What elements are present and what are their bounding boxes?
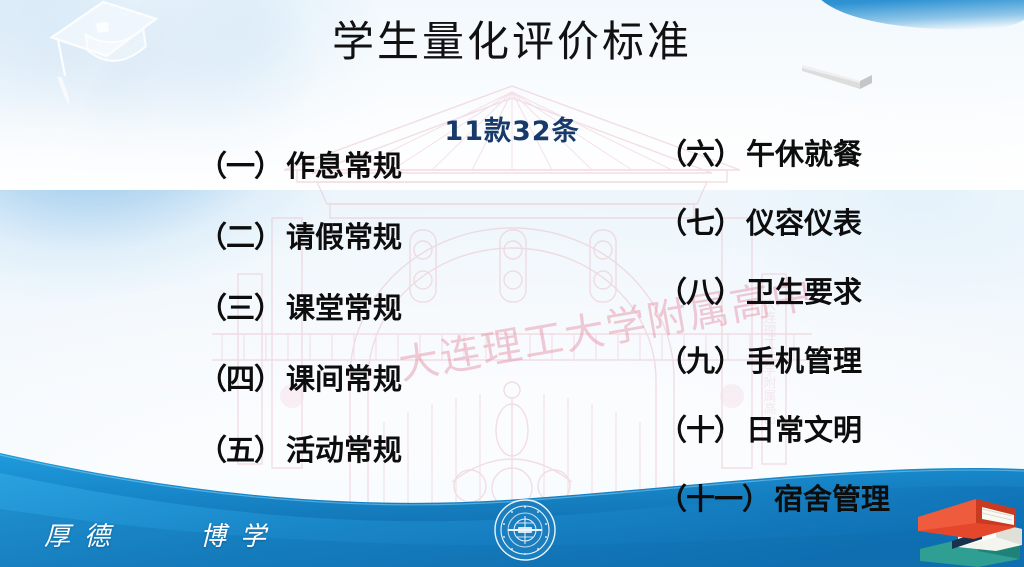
item-number: （九）: [658, 344, 742, 378]
item-label: 课间常规: [286, 362, 402, 396]
list-item: （一）作息常规: [198, 152, 402, 181]
left-items-column: （一）作息常规 （二）请假常规 （三）课堂常规 （四）课间常规 （五）活动常规: [198, 152, 402, 507]
item-number: （四）: [198, 362, 282, 396]
list-item: （十）日常文明: [658, 416, 890, 445]
list-item: （六）午休就餐: [658, 140, 890, 169]
stacked-books-icon: [912, 487, 1024, 567]
motto-houde: 厚德: [44, 516, 124, 553]
list-item: （九）手机管理: [658, 347, 890, 376]
item-label: 宿舍管理: [774, 482, 890, 516]
page-title: 学生量化评价标准: [0, 8, 1024, 69]
list-item: （三）课堂常规: [198, 294, 402, 323]
item-number: （一）: [198, 149, 282, 183]
item-label: 请假常规: [286, 220, 402, 254]
item-label: 日常文明: [746, 413, 862, 447]
item-number: （三）: [198, 291, 282, 325]
list-item: （八）卫生要求: [658, 278, 890, 307]
item-label: 仪容仪表: [746, 206, 862, 240]
list-item: （五）活动常规: [198, 436, 402, 465]
item-number: （十一）: [658, 482, 770, 516]
item-label: 活动常规: [286, 433, 402, 467]
item-number: （二）: [198, 220, 282, 254]
item-number: （五）: [198, 433, 282, 467]
list-item: （十一）宿舍管理: [658, 485, 890, 514]
item-label: 卫生要求: [746, 275, 862, 309]
item-number: （十）: [658, 413, 742, 447]
list-item: （二）请假常规: [198, 223, 402, 252]
motto-boxue: 博学: [200, 516, 280, 553]
item-number: （八）: [658, 275, 742, 309]
right-items-column: （六）午休就餐 （七）仪容仪表 （八）卫生要求 （九）手机管理 （十）日常文明 …: [658, 140, 890, 554]
item-number: （七）: [658, 206, 742, 240]
item-label: 课堂常规: [286, 291, 402, 325]
school-emblem: [494, 499, 556, 561]
item-label: 作息常规: [286, 149, 402, 183]
list-item: （四）课间常规: [198, 365, 402, 394]
item-number: （六）: [658, 137, 742, 171]
presentation-slide: 大连理工大学附属高中 大连理工大学附属高中: [0, 0, 1024, 567]
item-label: 手机管理: [746, 344, 862, 378]
item-label: 午休就餐: [746, 137, 862, 171]
list-item: （七）仪容仪表: [658, 209, 890, 238]
